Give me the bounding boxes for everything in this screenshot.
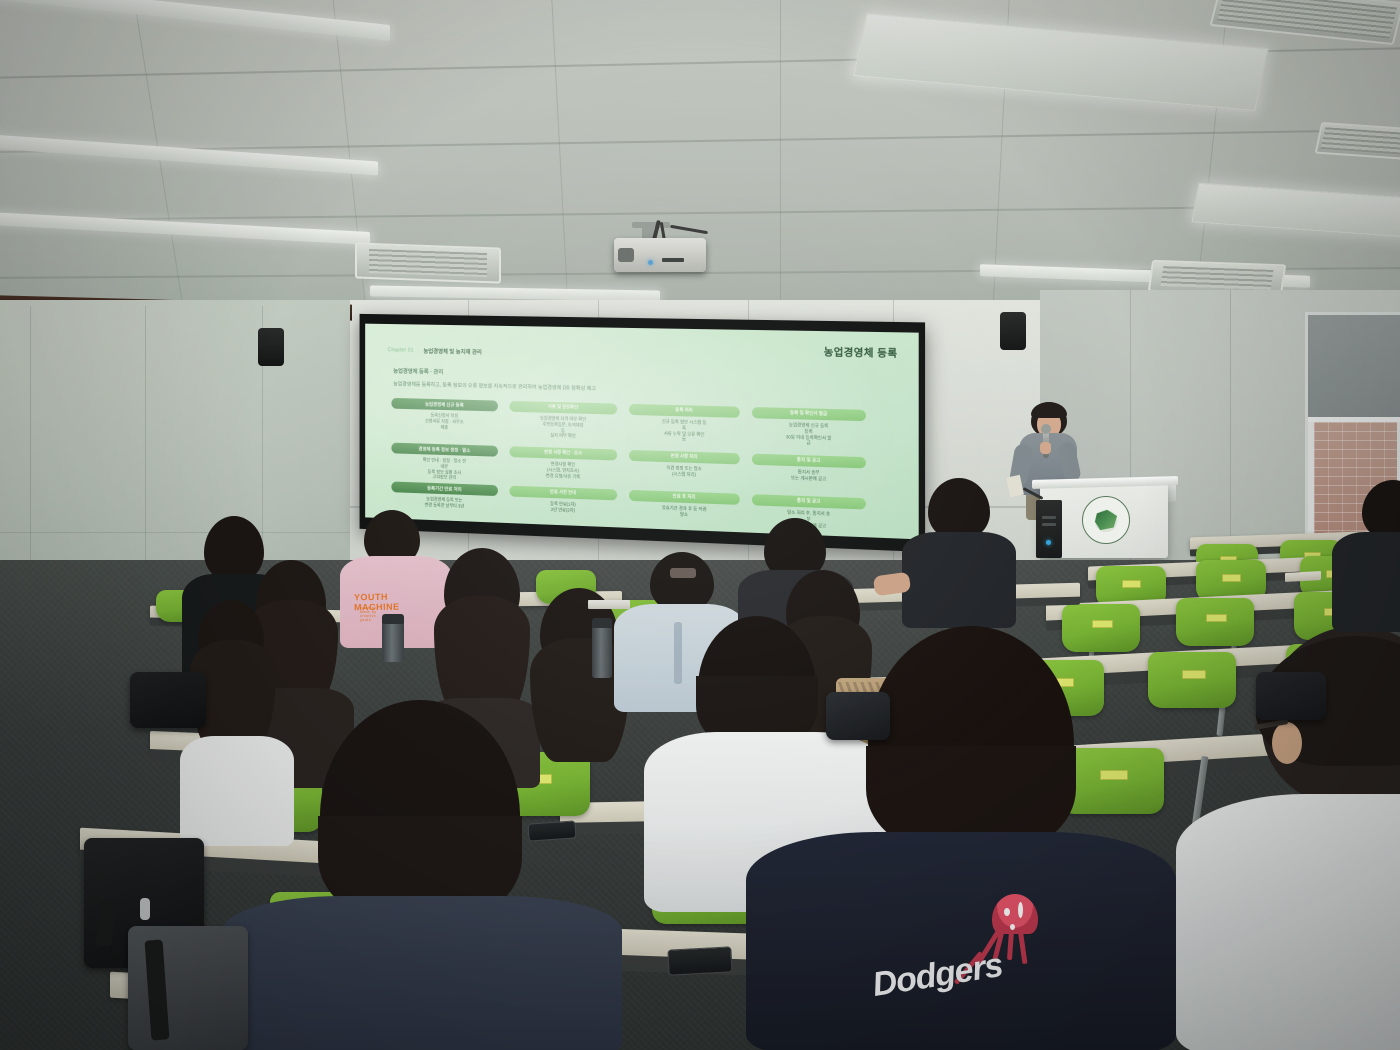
ceiling-light-bar [0, 134, 378, 175]
hair-clip [670, 568, 696, 578]
window-blind[interactable] [1308, 315, 1400, 420]
head [928, 478, 990, 540]
wall-speaker-right [1000, 312, 1026, 350]
ceiling-light-panel [1191, 183, 1400, 238]
slide-cell-body: 직권 정정 또는 말소 (시스템 처리) [629, 464, 740, 479]
slide-sub-text: 농업경영체를 등록하고, 등록 정보의 오류 정보를 지속적으로 관리하여 농업… [393, 380, 596, 392]
slide-cell-head: 서류 및 현장확인 [509, 401, 617, 415]
slide-cell-body: 유효기간 경과 후 등 직권 말소 [629, 504, 740, 520]
slide-cell-head: 등록 처리 [629, 404, 740, 418]
head [204, 516, 264, 582]
ac-vent [355, 242, 501, 283]
slide-chapter-title: 농업경영체 및 농지재 관리 [423, 347, 481, 356]
water-bottle [592, 626, 612, 678]
slide-row-label-body: 등록신청서 작성 신청서류 지참 · 사무소 제출 [391, 412, 498, 432]
bag [1256, 672, 1326, 720]
slide-row-label: 경영체 등록 정보 정정 · 말소 [391, 443, 498, 457]
slide-cell-head: 만료 사전 안내 [509, 486, 617, 501]
slide-cell-body: 등록 만료(1차) 2년 만료(2차) [509, 499, 617, 515]
slide-row-label: 등록기간 만료 처리 [391, 481, 498, 496]
torso [746, 832, 1176, 1050]
slide-cell-body: 변경사항 확인 (시스템, 현지조사) 변경 유형/사유 기록 [509, 460, 617, 481]
shirt-graphic-subtext: machine made by creative youth [360, 606, 376, 622]
bag [130, 672, 206, 728]
slide-row-label-body: 농업경영체 등록 또는 변경 등록한 날부터 3년 [391, 495, 498, 510]
presentation-slide: Chapter 01 농업경영체 및 농지재 관리 농업경영체 등록 농업경영체… [365, 324, 919, 540]
slide-cell-head: 통지 및 공고 [752, 494, 866, 509]
slide-cell-body: 농업경영체 자격 여부 확인 주민등록등본, 토지대장 등 실지 여부 확인 [509, 415, 617, 441]
microphone-head [1041, 424, 1051, 434]
slide-cell-body: 통지서 송부 또는 게시판에 공고 [752, 468, 866, 484]
slide-cell-head: 변경 사항 확인 · 조사 [509, 446, 617, 460]
slide-cell-body: 농업경영체 신규 등록 등록 30일 이내 등록확인서 발 급 [752, 421, 866, 448]
ceiling [0, 0, 1400, 330]
ceiling-light-bar [0, 0, 390, 41]
bottle-cap [382, 614, 404, 624]
podium-computer [1036, 500, 1062, 558]
smartphone[interactable] [667, 946, 732, 975]
slide-chapter-tag: Chapter 01 [388, 347, 414, 353]
bag [826, 692, 890, 740]
water-bottle [382, 622, 404, 662]
slide-sub-heading: 농업경영체 등록 · 관리 [393, 367, 443, 376]
wall-speaker-left [258, 328, 284, 366]
slide-row-label-body: 확인 안내 · 정정 · 말소 안 내문 등록 정보 실황 조사 고의정보 관리 [391, 456, 498, 482]
zipper-pull [140, 898, 150, 920]
slide-cell-head: 통지 및 공고 [752, 454, 866, 469]
notebook [588, 600, 630, 609]
slide-cell-head: 만료 후 처리 [629, 490, 740, 505]
slide-cell-head: 변경 사항 처리 [629, 450, 740, 465]
notebook-stack [1285, 571, 1321, 582]
projection-screen: Chapter 01 농업경영체 및 농지재 관리 농업경영체 등록 농업경영체… [360, 314, 926, 552]
ear [1272, 722, 1302, 764]
ceiling-light-panel [853, 13, 1269, 111]
university-crest-icon [1082, 496, 1130, 544]
smartphone[interactable] [527, 820, 576, 841]
bottle-cap [592, 618, 612, 628]
slide-cell-head: 등록 및 확인서 발급 [752, 407, 866, 421]
lecture-hall-photo: Chapter 01 농업경영체 및 농지재 관리 농업경영체 등록 농업경영체… [0, 0, 1400, 1050]
ac-vent [1315, 122, 1400, 160]
slide-cell-body: 신규 등록 정보 시스템 등 록 서류 누락 및 오류 확인 등 [629, 418, 740, 444]
slide-title: 농업경영체 등록 [824, 343, 898, 360]
torso [1176, 794, 1400, 1050]
projector-lens [618, 248, 634, 262]
torso [1332, 532, 1400, 632]
torso [902, 532, 1016, 628]
head [650, 552, 714, 612]
ac-vent [1210, 0, 1400, 45]
slide-row-label: 농업경영체 신규 등록 [391, 398, 498, 412]
torso [180, 736, 294, 846]
torso [222, 896, 622, 1050]
